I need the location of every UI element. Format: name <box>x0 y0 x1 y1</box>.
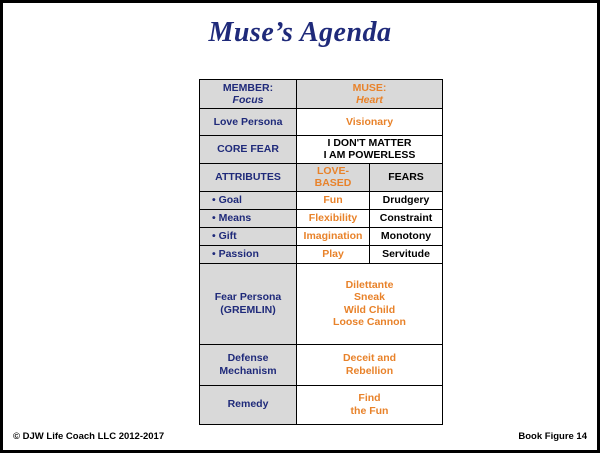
remedy-label: Remedy <box>200 385 297 424</box>
figure-number-footer: Book Figure 14 <box>518 431 587 442</box>
attribute-fear-gift: Monotony <box>370 227 443 245</box>
attributes-label: ATTRIBUTES <box>200 163 297 191</box>
defense-mechanism-value-line-1: Deceit and <box>299 352 440 364</box>
table-row: • Passion Play Servitude <box>200 245 443 263</box>
attribute-love-means: Flexibility <box>297 209 370 227</box>
love-persona-value: Visionary <box>297 109 443 136</box>
fear-persona-value-3: Wild Child <box>299 304 440 316</box>
attributes-fear-col-header: FEARS <box>370 163 443 191</box>
attribute-fear-passion: Servitude <box>370 245 443 263</box>
table-row-header: MEMBER: Focus MUSE: Heart <box>200 80 443 109</box>
fear-persona-label: Fear Persona (GREMLIN) <box>200 263 297 344</box>
header-muse-label: MUSE: <box>299 82 440 94</box>
copyright-footer: © DJW Life Coach LLC 2012-2017 <box>13 431 164 442</box>
love-persona-label: Love Persona <box>200 109 297 136</box>
table-row-remedy: Remedy Find the Fun <box>200 385 443 424</box>
attribute-name-means: • Means <box>200 209 297 227</box>
table-row: • Means Flexibility Constraint <box>200 209 443 227</box>
fear-persona-value-4: Loose Cannon <box>299 316 440 328</box>
attribute-name-passion: • Passion <box>200 245 297 263</box>
table-row-core-fear: CORE FEAR I DON'T MATTER I AM POWERLESS <box>200 136 443 164</box>
header-member-sub: Focus <box>202 94 294 106</box>
header-muse-cell: MUSE: Heart <box>297 80 443 109</box>
remedy-value-line-1: Find <box>299 392 440 404</box>
attribute-love-passion: Play <box>297 245 370 263</box>
table-row: • Goal Fun Drudgery <box>200 191 443 209</box>
core-fear-line-1: I DON'T MATTER <box>299 137 440 149</box>
defense-mechanism-value-line-2: Rebellion <box>299 365 440 377</box>
table-row-defense-mechanism: Defense Mechanism Deceit and Rebellion <box>200 344 443 385</box>
attribute-name-goal: • Goal <box>200 191 297 209</box>
core-fear-line-2: I AM POWERLESS <box>299 149 440 161</box>
fear-persona-value-2: Sneak <box>299 291 440 303</box>
header-member-cell: MEMBER: Focus <box>200 80 297 109</box>
attributes-love-col-header: LOVE-BASED <box>297 163 370 191</box>
attribute-fear-goal: Drudgery <box>370 191 443 209</box>
fear-persona-label-line-2: (GREMLIN) <box>202 304 294 316</box>
slide-root: Muse’s Agenda MEMBER: Focus MUSE: Heart <box>0 0 600 453</box>
attribute-love-goal: Fun <box>297 191 370 209</box>
header-muse-sub: Heart <box>299 94 440 106</box>
fear-persona-value-1: Dilettante <box>299 279 440 291</box>
attribute-name-gift: • Gift <box>200 227 297 245</box>
defense-mechanism-value: Deceit and Rebellion <box>297 344 443 385</box>
defense-mechanism-label-line-1: Defense <box>202 352 294 364</box>
table-row-love-persona: Love Persona Visionary <box>200 109 443 136</box>
fear-persona-label-line-1: Fear Persona <box>202 291 294 303</box>
agenda-table: MEMBER: Focus MUSE: Heart Love Persona V… <box>199 79 443 425</box>
table-row-fear-persona: Fear Persona (GREMLIN) Dilettante Sneak … <box>200 263 443 344</box>
core-fear-value: I DON'T MATTER I AM POWERLESS <box>297 136 443 164</box>
remedy-value: Find the Fun <box>297 385 443 424</box>
defense-mechanism-label: Defense Mechanism <box>200 344 297 385</box>
header-member-label: MEMBER: <box>202 82 294 94</box>
agenda-table-container: MEMBER: Focus MUSE: Heart Love Persona V… <box>199 79 442 425</box>
fear-persona-values: Dilettante Sneak Wild Child Loose Cannon <box>297 263 443 344</box>
attribute-love-gift: Imagination <box>297 227 370 245</box>
table-row-attributes-header: ATTRIBUTES LOVE-BASED FEARS <box>200 163 443 191</box>
attribute-fear-means: Constraint <box>370 209 443 227</box>
defense-mechanism-label-line-2: Mechanism <box>202 365 294 377</box>
page-title: Muse’s Agenda <box>3 17 597 49</box>
core-fear-label: CORE FEAR <box>200 136 297 164</box>
table-row: • Gift Imagination Monotony <box>200 227 443 245</box>
remedy-value-line-2: the Fun <box>299 405 440 417</box>
